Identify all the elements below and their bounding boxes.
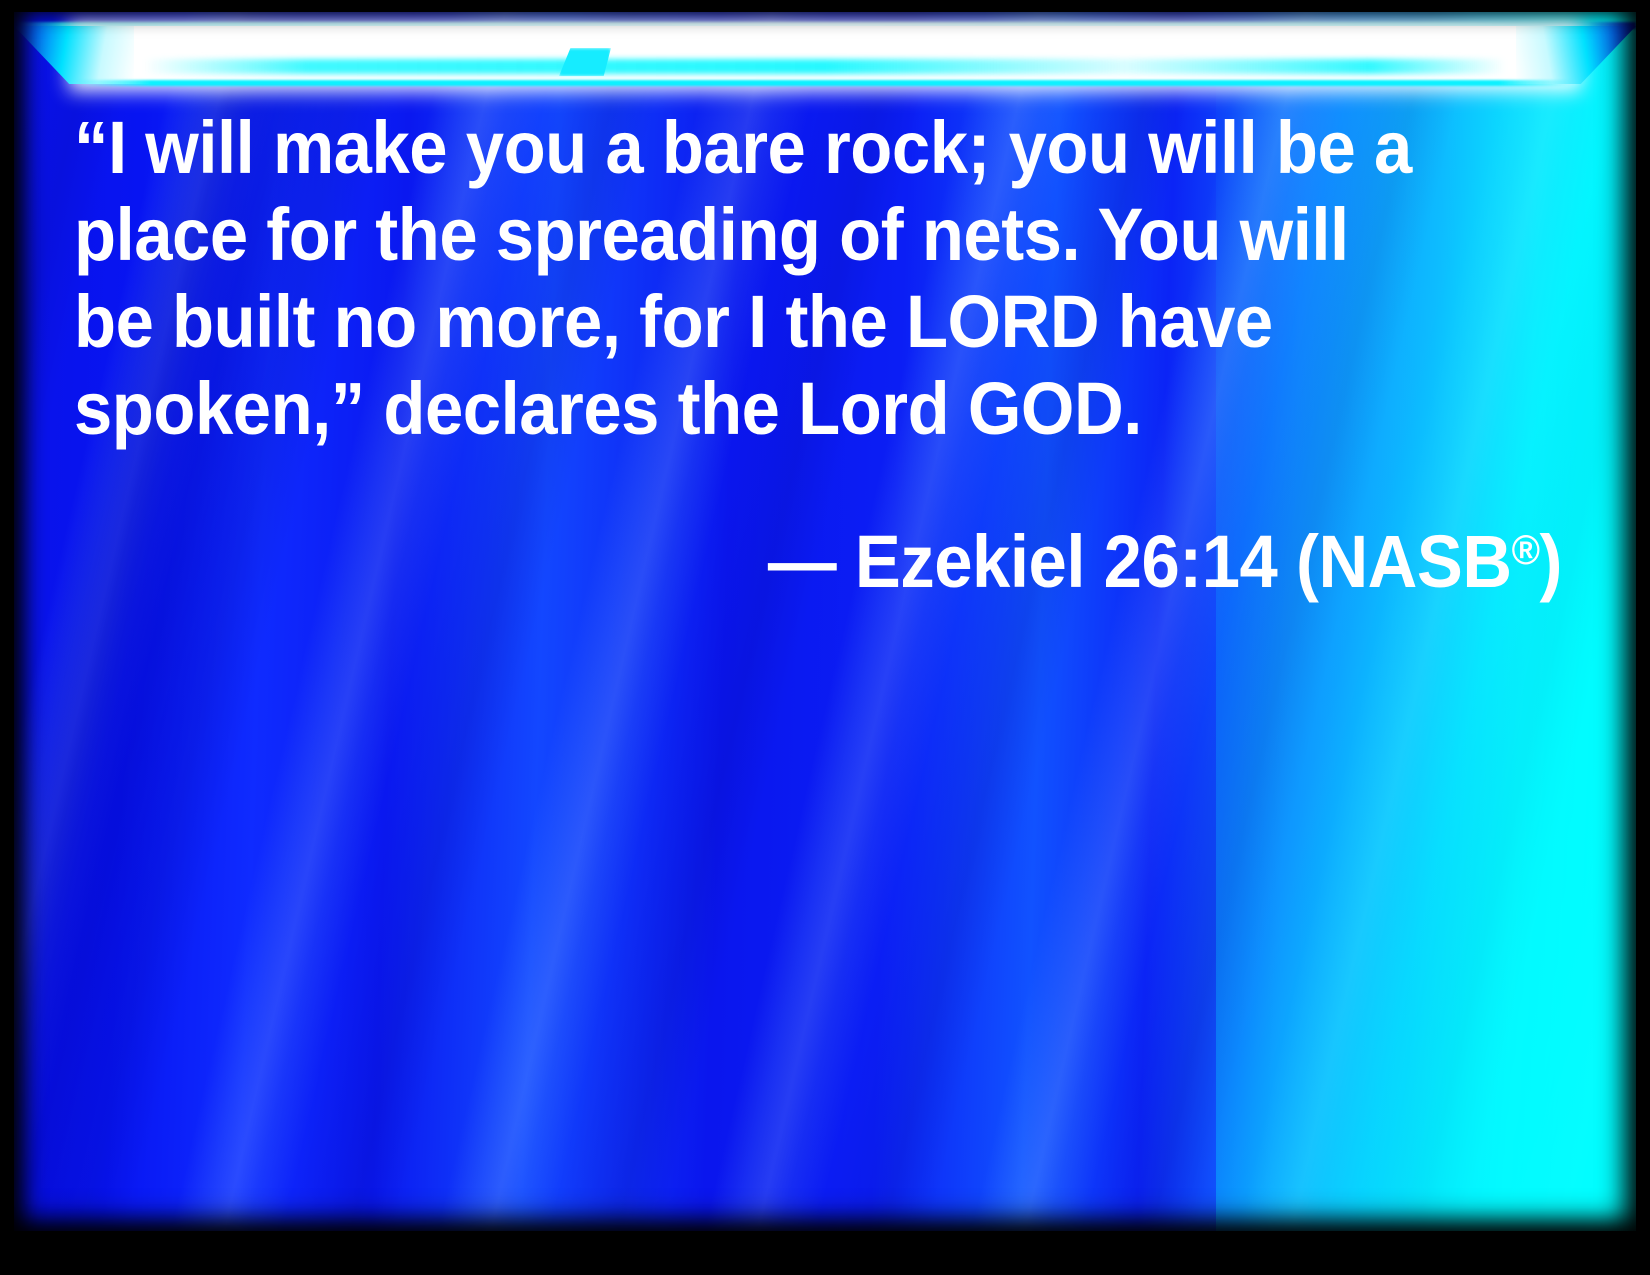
diagonal-light-streaks bbox=[14, 12, 1636, 1231]
banner-cyan-top-line bbox=[14, 22, 1636, 29]
cyan-edge-glow bbox=[1216, 12, 1636, 1231]
top-white-banner bbox=[14, 12, 1636, 84]
banner-cyan-bottom-edge bbox=[76, 80, 1574, 86]
verse-slide: “I will make you a bare rock; you will b… bbox=[0, 0, 1650, 1275]
banner-left-wedge bbox=[14, 26, 134, 84]
banner-right-wedge bbox=[1516, 26, 1636, 84]
banner-white-bar bbox=[76, 26, 1574, 84]
banner-cyan-streak bbox=[144, 59, 1506, 74]
edge-vignette bbox=[14, 12, 1636, 1231]
dark-diagonal-band bbox=[14, 12, 1636, 1231]
banner-cyan-notch bbox=[559, 48, 611, 76]
blue-gradient-background bbox=[14, 12, 1636, 1231]
